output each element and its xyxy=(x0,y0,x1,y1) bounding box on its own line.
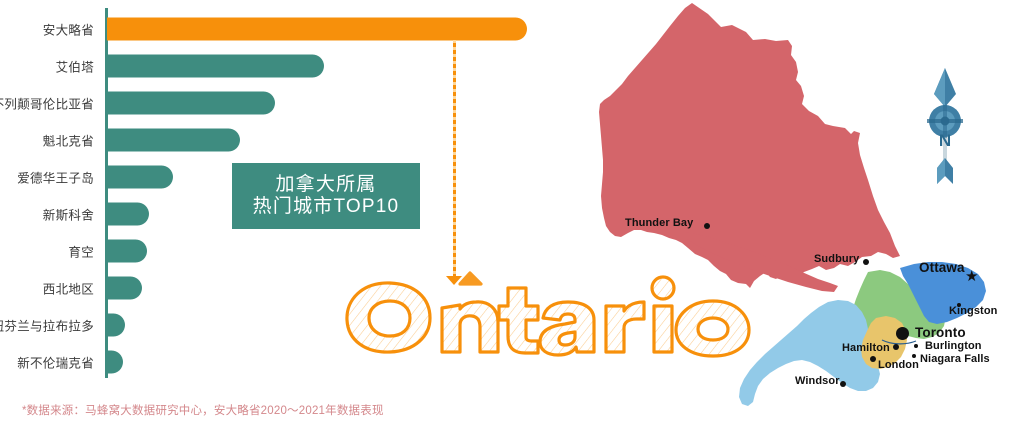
bar-fill xyxy=(107,240,147,263)
city-label-niagara-falls: Niagara Falls xyxy=(920,353,990,365)
bar-category-label: 纽芬兰与拉布拉多 xyxy=(0,316,94,335)
city-label-kingston: Kingston xyxy=(949,305,997,317)
city-dot-toronto xyxy=(896,327,909,340)
bar-fill xyxy=(107,18,527,41)
bar-track xyxy=(107,92,275,115)
bar-track xyxy=(107,240,147,263)
bar-category-label: 不列颠哥伦比亚省 xyxy=(0,94,94,113)
bar-track xyxy=(107,166,173,189)
city-label-burlington: Burlington xyxy=(925,340,982,352)
bar-track xyxy=(107,351,123,374)
callout-connector xyxy=(452,36,458,284)
bar-category-label: 育空 xyxy=(68,242,94,261)
bar-track xyxy=(107,277,142,300)
city-label-london: London xyxy=(878,359,919,371)
bar-category-label: 西北地区 xyxy=(43,279,94,298)
bar-fill xyxy=(107,129,240,152)
capital-star-icon: ★ xyxy=(965,269,978,284)
city-dot-thunder-bay xyxy=(704,223,710,229)
data-source-footnote: *数据来源：马蜂窝大数据研究中心，安大略省2020～2021年数据表现 xyxy=(22,402,384,418)
compass-rose: N xyxy=(908,62,982,187)
bar-row: 魁北克省 xyxy=(0,123,560,157)
bar-track xyxy=(107,129,240,152)
bar-fill xyxy=(107,351,123,374)
title-badge-line2: 热门城市TOP10 xyxy=(253,196,400,218)
bar-fill xyxy=(107,55,324,78)
bar-track xyxy=(107,314,125,337)
city-label-sudbury: Sudbury xyxy=(814,253,859,265)
bar-category-label: 魁北克省 xyxy=(43,131,94,150)
bar-category-label: 新斯科舍 xyxy=(43,205,94,224)
infographic-canvas: 安大略省艾伯塔不列颠哥伦比亚省魁北克省爱德华王子岛新斯科舍育空西北地区纽芬兰与拉… xyxy=(0,0,1031,429)
title-badge: 加拿大所属 热门城市TOP10 xyxy=(232,163,420,229)
city-dot-windsor xyxy=(840,381,846,387)
bar-row: 安大略省 xyxy=(0,12,560,46)
bar-fill xyxy=(107,92,275,115)
title-badge-line1: 加拿大所属 xyxy=(275,174,376,196)
city-label-ottawa: Ottawa xyxy=(919,260,965,275)
bar-row: 不列颠哥伦比亚省 xyxy=(0,86,560,120)
bar-row: 育空 xyxy=(0,234,560,268)
bar-category-label: 艾伯塔 xyxy=(56,57,94,76)
bar-row: 艾伯塔 xyxy=(0,49,560,83)
city-dot-sudbury xyxy=(863,259,869,265)
bar-fill xyxy=(107,314,125,337)
bar-category-label: 爱德华王子岛 xyxy=(17,168,94,187)
city-label-hamilton: Hamilton xyxy=(842,342,890,354)
bar-fill xyxy=(107,203,149,226)
city-dot-hamilton xyxy=(893,344,899,350)
city-label-toronto: Toronto xyxy=(915,325,966,340)
compass-north-label: N xyxy=(908,131,982,151)
bar-fill xyxy=(107,277,142,300)
city-label-windsor: Windsor xyxy=(795,375,840,387)
map-region-north xyxy=(599,3,900,288)
bar-category-label: 新不伦瑞克省 xyxy=(17,353,94,372)
city-dot-london xyxy=(870,356,876,362)
city-dot-niagara-falls xyxy=(912,354,916,358)
bar-category-label: 安大略省 xyxy=(43,20,94,39)
bar-track xyxy=(107,203,149,226)
bar-track xyxy=(107,55,324,78)
bar-fill xyxy=(107,166,173,189)
city-label-thunder-bay: Thunder Bay xyxy=(625,217,693,229)
city-dot-burlington xyxy=(914,344,918,348)
connector-stem xyxy=(453,36,456,278)
bar-track xyxy=(107,18,527,41)
city-dot-kingston xyxy=(957,303,961,307)
